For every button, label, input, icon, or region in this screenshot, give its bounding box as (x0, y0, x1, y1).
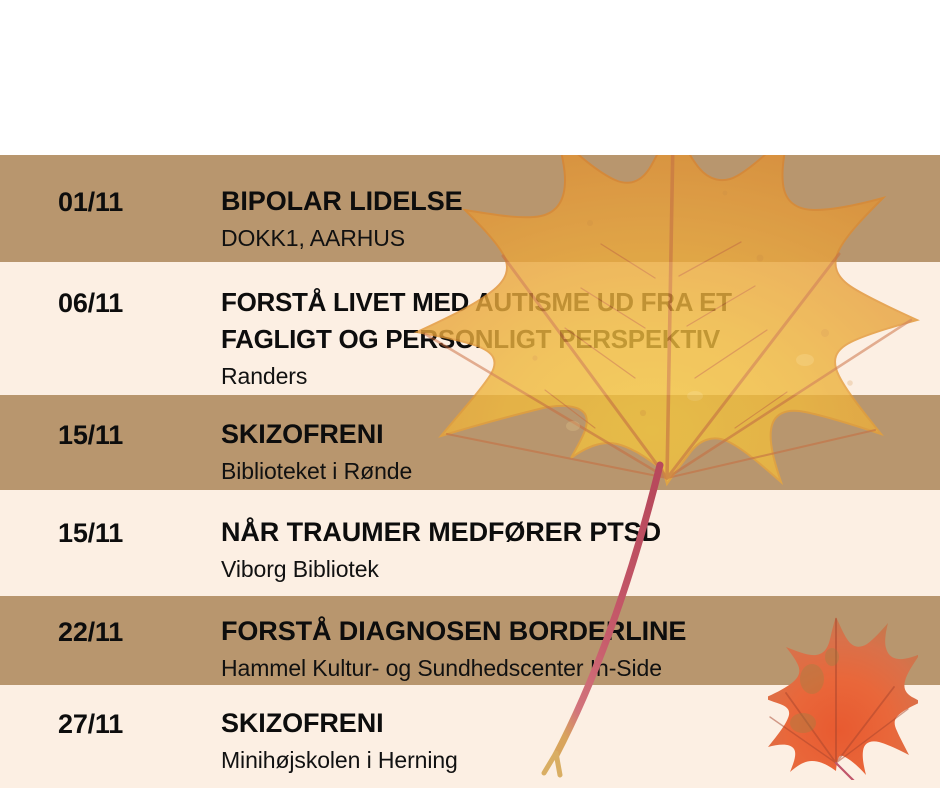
event-title: BIPOLAR LIDELSE (221, 183, 463, 220)
event-details: FORSTÅ LIVET MED AUTISME UD FRA ET FAGLI… (221, 284, 732, 392)
event-venue: Minihøjskolen i Herning (221, 745, 458, 776)
header-band (0, 0, 940, 155)
event-details: BIPOLAR LIDELSE DOKK1, AARHUS (221, 183, 463, 254)
event-details: NÅR TRAUMER MEDFØRER PTSD Viborg Bibliot… (221, 514, 661, 585)
event-details: SKIZOFRENI Biblioteket i Rønde (221, 416, 412, 487)
event-title: FORSTÅ LIVET MED AUTISME UD FRA ET (221, 284, 732, 321)
event-venue: Viborg Bibliotek (221, 554, 661, 585)
event-row: 22/11 FORSTÅ DIAGNOSEN BORDERLINE Hammel… (0, 596, 940, 685)
event-title: FORSTÅ DIAGNOSEN BORDERLINE (221, 613, 686, 650)
event-date: 27/11 (58, 709, 123, 740)
event-title-line2: FAGLIGT OG PERSONLIGT PERSPEKTIV (221, 321, 732, 358)
event-date: 01/11 (58, 187, 123, 218)
event-venue: Randers (221, 361, 732, 392)
event-venue: DOKK1, AARHUS (221, 223, 463, 254)
event-venue: Biblioteket i Rønde (221, 456, 412, 487)
event-row: 06/11 FORSTÅ LIVET MED AUTISME UD FRA ET… (0, 262, 940, 395)
event-date: 15/11 (58, 420, 123, 451)
event-title: SKIZOFRENI (221, 416, 412, 453)
event-details: SKIZOFRENI Minihøjskolen i Herning (221, 705, 458, 776)
event-details: FORSTÅ DIAGNOSEN BORDERLINE Hammel Kultu… (221, 613, 686, 684)
event-title: SKIZOFRENI (221, 705, 458, 742)
poster-canvas: 01/11 BIPOLAR LIDELSE DOKK1, AARHUS 06/1… (0, 0, 940, 788)
event-row: 01/11 BIPOLAR LIDELSE DOKK1, AARHUS (0, 155, 940, 262)
event-row: 27/11 SKIZOFRENI Minihøjskolen i Herning (0, 685, 940, 788)
event-venue: Hammel Kultur- og Sundhedscenter In-Side (221, 653, 686, 684)
event-row: 15/11 NÅR TRAUMER MEDFØRER PTSD Viborg B… (0, 490, 940, 596)
event-row: 15/11 SKIZOFRENI Biblioteket i Rønde (0, 395, 940, 490)
event-title: NÅR TRAUMER MEDFØRER PTSD (221, 514, 661, 551)
event-date: 06/11 (58, 288, 123, 319)
event-date: 15/11 (58, 518, 123, 549)
event-date: 22/11 (58, 617, 123, 648)
